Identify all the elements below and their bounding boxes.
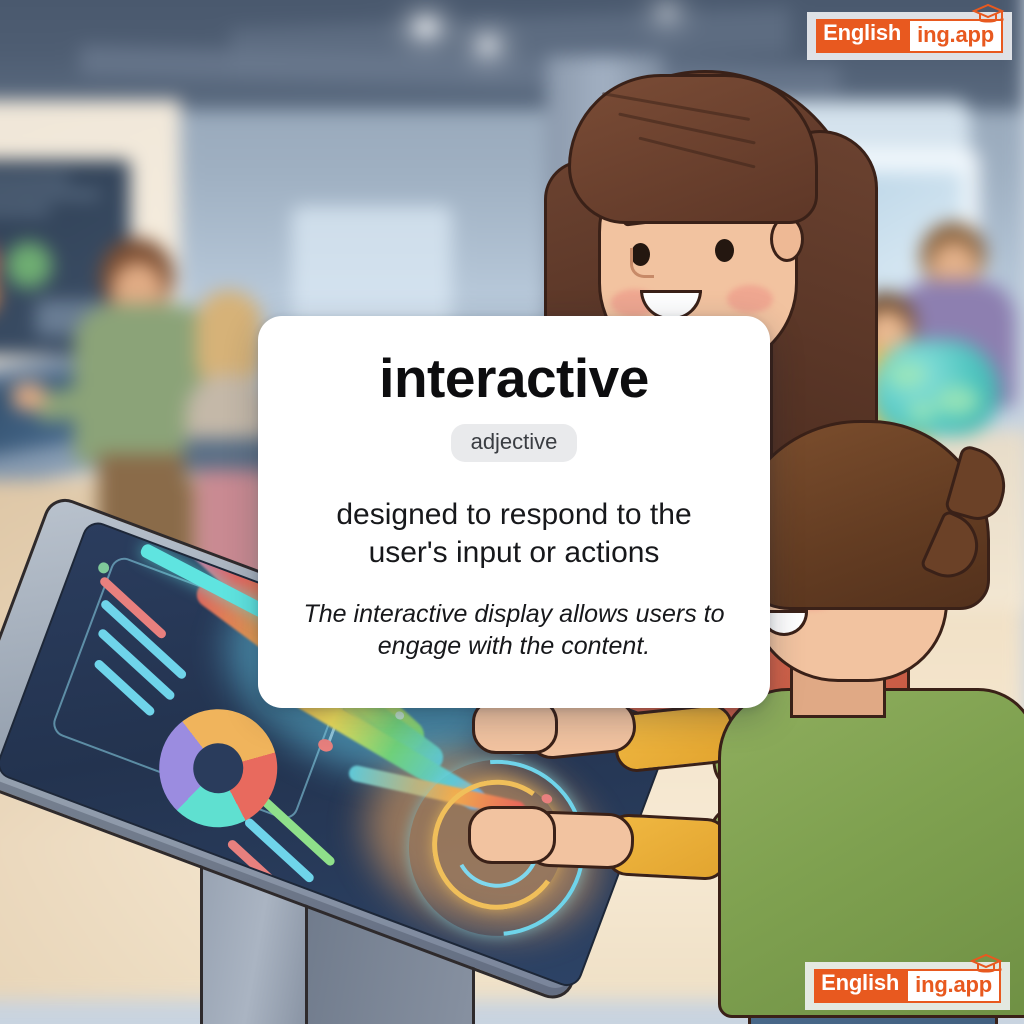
ceiling-spotlight [415,20,437,34]
graduation-cap-icon [971,2,1005,31]
ceiling-spotlight [660,8,674,18]
woman-cheek-right [727,285,773,313]
part-of-speech-badge: adjective [451,424,578,462]
woman-eye-right [715,239,734,262]
logo-text-primary: English [816,19,908,53]
vocabulary-card-image: interactive adjective designed to respon… [0,0,1024,1024]
logo-text-primary: English [814,969,906,1003]
graduation-cap-icon [969,952,1003,981]
vocabulary-word: interactive [379,350,649,407]
ceiling-spotlight [480,40,496,51]
boy-pointing-hand-bottom[interactable] [468,806,556,864]
definition-card: interactive adjective designed to respon… [258,316,770,708]
brand-logo-bottom-right[interactable]: English ing.app [805,962,1010,1010]
example-sentence: The interactive display allows users to … [288,598,740,662]
brand-logo-top-right[interactable]: English ing.app [807,12,1012,60]
woman-nose [630,248,654,278]
woman-hair-front [568,74,818,224]
definition-text: designed to respond to the user's input … [294,496,734,572]
